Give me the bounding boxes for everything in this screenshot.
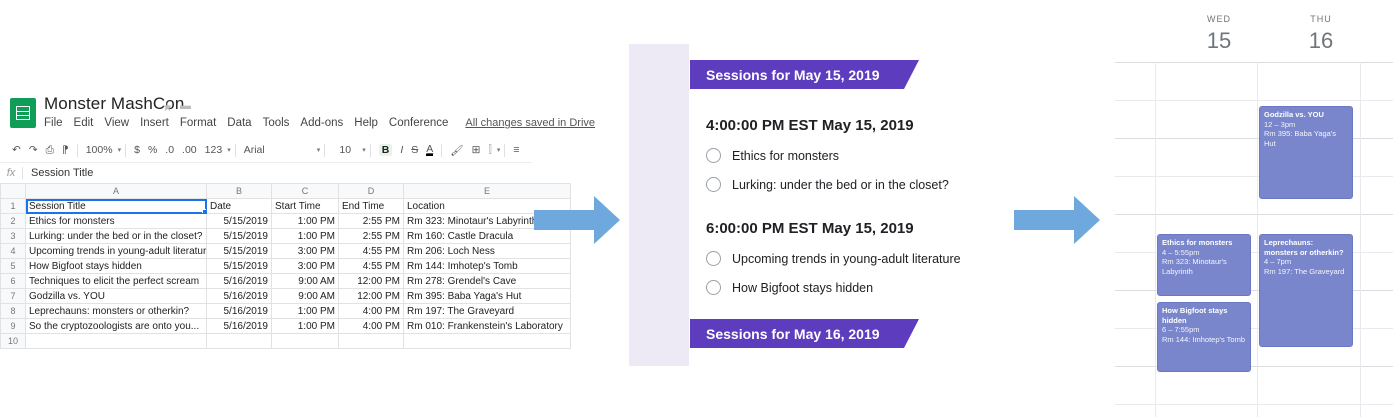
- event-time: 4 – 5:55pm: [1162, 248, 1246, 258]
- cell-start[interactable]: 1:00 PM: [272, 319, 339, 334]
- session-option[interactable]: How Bigfoot stays hidden: [706, 280, 947, 295]
- star-icon[interactable]: ★: [162, 100, 173, 114]
- gridline-half: [1115, 100, 1393, 101]
- google-sheets-panel: Monster MashCon ★ ▬ FileEditViewInsertFo…: [0, 92, 532, 324]
- italic-button[interactable]: I: [400, 144, 403, 156]
- cell-date[interactable]: 5/15/2019: [207, 259, 272, 274]
- cell-c1[interactable]: Start Time: [272, 199, 339, 214]
- more-formats-button[interactable]: 123: [205, 144, 223, 156]
- cell-empty[interactable]: [272, 334, 339, 349]
- day-of-week-label: WED: [1168, 14, 1270, 24]
- sheets-toolbar: ↶ ↷ ⎙ ⁋ 100% ▾ $ % .0 .00 123 ▾ Arial ▾ …: [0, 138, 532, 162]
- menu-item-addons[interactable]: Add-ons: [300, 117, 343, 129]
- table-row: 3 Lurking: under the bed or in the close…: [1, 229, 571, 244]
- sessions-banner-may-16: Sessions for May 16, 2019: [690, 319, 904, 348]
- calendar-day-header-thu[interactable]: THU 16: [1270, 0, 1372, 54]
- cell-empty[interactable]: [404, 334, 571, 349]
- cell-date[interactable]: 5/16/2019: [207, 304, 272, 319]
- cell-date[interactable]: 5/16/2019: [207, 319, 272, 334]
- font-size-select[interactable]: 10: [333, 144, 357, 156]
- calendar-time-grid[interactable]: Godzilla vs. YOU 12 – 3pm Rm 395: Baba Y…: [1115, 62, 1393, 417]
- cell-empty[interactable]: [207, 334, 272, 349]
- cell-date[interactable]: 5/16/2019: [207, 289, 272, 304]
- row-number[interactable]: 4: [1, 244, 26, 259]
- event-time: 4 – 7pm: [1264, 257, 1348, 267]
- cell-date[interactable]: 5/15/2019: [207, 229, 272, 244]
- row-number[interactable]: 6: [1, 274, 26, 289]
- chevron-down-icon[interactable]: ▾: [118, 146, 122, 154]
- cell-d1[interactable]: End Time: [339, 199, 404, 214]
- cell-start[interactable]: 1:00 PM: [272, 214, 339, 229]
- cell-a1[interactable]: Session Title: [26, 199, 207, 214]
- cell-date[interactable]: 5/15/2019: [207, 214, 272, 229]
- table-row: 7 Godzilla vs. YOU 5/16/2019 9:00 AM 12:…: [1, 289, 571, 304]
- menu-item-conference[interactable]: Conference: [389, 117, 448, 129]
- event-location: Rm 144: Imhotep's Tomb: [1162, 335, 1246, 345]
- menu-bar: FileEditViewInsertFormatDataToolsAdd-ons…: [44, 117, 606, 129]
- row-number[interactable]: 1: [1, 199, 26, 214]
- formula-input[interactable]: Session Title: [23, 167, 93, 179]
- menu-item-view[interactable]: View: [104, 117, 129, 129]
- formula-bar: fx Session Title: [0, 162, 532, 184]
- session-group-time-2: 6:00:00 PM EST May 15, 2019: [706, 220, 947, 237]
- function-icon[interactable]: fx: [0, 167, 22, 179]
- table-row: 5 How Bigfoot stays hidden 5/15/2019 3:0…: [1, 259, 571, 274]
- cell-start[interactable]: 1:00 PM: [272, 229, 339, 244]
- cell-title[interactable]: Ethics for monsters: [26, 214, 207, 229]
- chevron-down-icon[interactable]: ▾: [227, 146, 231, 154]
- cell-start[interactable]: 1:00 PM: [272, 304, 339, 319]
- cell-title[interactable]: How Bigfoot stays hidden: [26, 259, 207, 274]
- cell-date[interactable]: 5/16/2019: [207, 274, 272, 289]
- session-option[interactable]: Upcoming trends in young-adult literatur…: [706, 251, 947, 266]
- toolbar-divider: [235, 144, 236, 157]
- radio-button-icon[interactable]: [706, 280, 721, 295]
- arrow-head: [1074, 196, 1100, 244]
- decrease-decimal-button[interactable]: .0: [165, 144, 174, 156]
- session-option-label: How Bigfoot stays hidden: [732, 281, 873, 295]
- menu-item-file[interactable]: File: [44, 117, 63, 129]
- save-status-link[interactable]: All changes saved in Drive: [465, 117, 595, 129]
- zoom-level-select[interactable]: 100%: [86, 144, 113, 156]
- cell-empty[interactable]: [26, 334, 207, 349]
- cell-title[interactable]: Upcoming trends in young-adult literatur…: [26, 244, 207, 259]
- paint-format-icon[interactable]: ⁋: [62, 144, 69, 156]
- percent-format-button[interactable]: %: [148, 144, 157, 156]
- menu-item-edit[interactable]: Edit: [74, 117, 94, 129]
- menu-item-data[interactable]: Data: [227, 117, 251, 129]
- table-row: 1 Session Title Date Start Time End Time…: [1, 199, 571, 214]
- chevron-down-icon[interactable]: ▾: [362, 146, 366, 154]
- cell-start[interactable]: 3:00 PM: [272, 259, 339, 274]
- currency-format-button[interactable]: $: [134, 144, 140, 156]
- menu-item-format[interactable]: Format: [180, 117, 216, 129]
- calendar-event[interactable]: Leprechauns: monsters or otherkin? 4 – 7…: [1259, 234, 1353, 347]
- strikethrough-button[interactable]: S: [411, 144, 418, 156]
- bold-button[interactable]: B: [379, 144, 393, 156]
- cell-title[interactable]: Techniques to elicit the perfect scream: [26, 274, 207, 289]
- event-title: Leprechauns: monsters or otherkin?: [1264, 238, 1348, 257]
- sheets-header: Monster MashCon ★ ▬ FileEditViewInsertFo…: [0, 92, 532, 138]
- chevron-down-icon[interactable]: ▾: [317, 146, 321, 154]
- folder-icon[interactable]: ▬: [180, 100, 191, 112]
- flow-arrow-right-icon: [534, 196, 622, 244]
- day-number-label: 16: [1270, 28, 1372, 54]
- session-option[interactable]: Lurking: under the bed or in the closet?: [706, 177, 947, 192]
- cell-end[interactable]: 2:55 PM: [339, 214, 404, 229]
- radio-button-icon[interactable]: [706, 148, 721, 163]
- row-number[interactable]: 7: [1, 289, 26, 304]
- cell-empty[interactable]: [339, 334, 404, 349]
- gridline-hour: [1115, 214, 1393, 215]
- cell-end[interactable]: 4:00 PM: [339, 319, 404, 334]
- radio-button-icon[interactable]: [706, 177, 721, 192]
- calendar-event[interactable]: How Bigfoot stays hidden 6 – 7:55pm Rm 1…: [1157, 302, 1251, 372]
- calendar-event[interactable]: Ethics for monsters 4 – 5:55pm Rm 323: M…: [1157, 234, 1251, 296]
- cell-end[interactable]: 12:00 PM: [339, 289, 404, 304]
- cell-end[interactable]: 12:00 PM: [339, 274, 404, 289]
- google-calendar-panel: WED 15 THU 16 Godzilla vs. YOU 12 – 3pm …: [1115, 0, 1393, 417]
- cell-location[interactable]: Rm 395: Baba Yaga's Hut: [404, 289, 571, 304]
- cell-end[interactable]: 2:55 PM: [339, 229, 404, 244]
- day-number-label: 15: [1168, 28, 1270, 54]
- merge-cells-icon[interactable]: ⫿: [488, 144, 491, 157]
- toolbar-divider: [441, 144, 442, 157]
- arrow-head: [594, 196, 620, 244]
- cell-location[interactable]: Rm 278: Grendel's Cave: [404, 274, 571, 289]
- table-row: 8 Leprechauns: monsters or otherkin? 5/1…: [1, 304, 571, 319]
- day-of-week-label: THU: [1270, 14, 1372, 24]
- table-row: 9 So the cryptozoologists are onto you..…: [1, 319, 571, 334]
- sessions-content: Sessions for May 15, 2019 4:00:00 PM EST…: [690, 44, 947, 366]
- banner-label: Sessions for May 16, 2019: [706, 326, 880, 342]
- horizontal-align-icon[interactable]: ≡: [513, 144, 519, 156]
- menu-item-tools[interactable]: Tools: [263, 117, 290, 129]
- spacer: [690, 295, 947, 319]
- cell-start[interactable]: 9:00 AM: [272, 289, 339, 304]
- cell-title[interactable]: Leprechauns: monsters or otherkin?: [26, 304, 207, 319]
- event-title: How Bigfoot stays hidden: [1162, 306, 1246, 325]
- row-number[interactable]: 2: [1, 214, 26, 229]
- session-option[interactable]: Ethics for monsters: [706, 148, 947, 163]
- column-header-b[interactable]: B: [207, 184, 272, 199]
- session-option-label: Lurking: under the bed or in the closet?: [732, 178, 949, 192]
- arrow-shaft: [1014, 210, 1076, 230]
- calendar-day-header-wed[interactable]: WED 15: [1168, 0, 1270, 54]
- banner-label: Sessions for May 15, 2019: [706, 67, 880, 83]
- sessions-side-rail: [629, 44, 689, 366]
- event-location: Rm 197: The Graveyard: [1264, 267, 1348, 277]
- row-number[interactable]: 10: [1, 334, 26, 349]
- table-row: 10: [1, 334, 571, 349]
- table-row: 4 Upcoming trends in young-adult literat…: [1, 244, 571, 259]
- flow-arrow-right-icon: [1014, 196, 1102, 244]
- session-option-label: Ethics for monsters: [732, 149, 839, 163]
- cell-end[interactable]: 4:55 PM: [339, 259, 404, 274]
- chevron-down-icon[interactable]: ▾: [497, 146, 501, 154]
- cell-start[interactable]: 9:00 AM: [272, 274, 339, 289]
- redo-icon[interactable]: ↷: [29, 144, 38, 156]
- print-icon[interactable]: ⎙: [46, 144, 54, 157]
- toolbar-divider: [504, 144, 505, 157]
- event-location: Rm 323: Minotaur's Labyrinth: [1162, 257, 1246, 276]
- gridline-half: [1115, 404, 1393, 405]
- event-title: Ethics for monsters: [1162, 238, 1246, 248]
- cell-location[interactable]: Rm 197: The Graveyard: [404, 304, 571, 319]
- select-all-corner[interactable]: [1, 184, 26, 199]
- undo-icon[interactable]: ↶: [12, 144, 21, 156]
- cell-location[interactable]: Rm 206: Loch Ness: [404, 244, 571, 259]
- column-header-row: A B C D E: [1, 184, 571, 199]
- session-group-time-1: 4:00:00 PM EST May 15, 2019: [706, 117, 947, 134]
- font-family-select[interactable]: Arial: [244, 144, 312, 156]
- cell-date[interactable]: 5/15/2019: [207, 244, 272, 259]
- calendar-event[interactable]: Godzilla vs. YOU 12 – 3pm Rm 395: Baba Y…: [1259, 106, 1353, 199]
- menu-item-help[interactable]: Help: [354, 117, 378, 129]
- session-option-label: Upcoming trends in young-adult literatur…: [732, 252, 961, 266]
- row-number[interactable]: 5: [1, 259, 26, 274]
- column-header-d[interactable]: D: [339, 184, 404, 199]
- column-header-c[interactable]: C: [272, 184, 339, 199]
- spreadsheet-grid: A B C D E 1 Session Title Date Start Tim…: [0, 183, 532, 349]
- menu-item-insert[interactable]: Insert: [140, 117, 169, 129]
- gridline-column: [1155, 62, 1156, 417]
- cell-location[interactable]: Rm 010: Frankenstein's Laboratory: [404, 319, 571, 334]
- event-location: Rm 395: Baba Yaga's Hut: [1264, 129, 1348, 148]
- radio-button-icon[interactable]: [706, 251, 721, 266]
- cell-end[interactable]: 4:55 PM: [339, 244, 404, 259]
- row-number[interactable]: 9: [1, 319, 26, 334]
- arrow-shaft: [534, 210, 596, 230]
- google-sheets-logo-icon: [10, 98, 36, 128]
- column-header-a[interactable]: A: [26, 184, 207, 199]
- increase-decimal-button[interactable]: .00: [182, 144, 197, 156]
- cell-end[interactable]: 4:00 PM: [339, 304, 404, 319]
- cell-title[interactable]: Godzilla vs. YOU: [26, 289, 207, 304]
- table-row: 2 Ethics for monsters 5/15/2019 1:00 PM …: [1, 214, 571, 229]
- event-time: 12 – 3pm: [1264, 120, 1348, 130]
- borders-icon[interactable]: ⊞: [472, 144, 481, 156]
- row-number[interactable]: 3: [1, 229, 26, 244]
- table-row: 6 Techniques to elicit the perfect screa…: [1, 274, 571, 289]
- toolbar-divider: [370, 144, 371, 157]
- cell-location[interactable]: Rm 144: Imhotep's Tomb: [404, 259, 571, 274]
- row-number[interactable]: 8: [1, 304, 26, 319]
- toolbar-divider: [77, 144, 78, 157]
- sessions-banner-may-15: Sessions for May 15, 2019: [690, 60, 904, 89]
- banner-notch: [904, 319, 919, 348]
- banner-notch: [904, 60, 919, 89]
- event-title: Godzilla vs. YOU: [1264, 110, 1348, 120]
- cell-title[interactable]: So the cryptozoologists are onto you...: [26, 319, 207, 334]
- gridline-column: [1257, 62, 1258, 417]
- toolbar-divider: [324, 144, 325, 157]
- gridline-hour: [1115, 62, 1393, 63]
- sessions-form-panel: Sessions for May 15, 2019 4:00:00 PM EST…: [629, 44, 947, 366]
- cell-start[interactable]: 3:00 PM: [272, 244, 339, 259]
- text-color-button[interactable]: A: [426, 145, 433, 156]
- cell-b1[interactable]: Date: [207, 199, 272, 214]
- cell-title[interactable]: Lurking: under the bed or in the closet?: [26, 229, 207, 244]
- fill-color-icon[interactable]: 🖌: [450, 144, 463, 157]
- event-time: 6 – 7:55pm: [1162, 325, 1246, 335]
- gridline-column: [1360, 62, 1361, 417]
- toolbar-divider: [125, 144, 126, 157]
